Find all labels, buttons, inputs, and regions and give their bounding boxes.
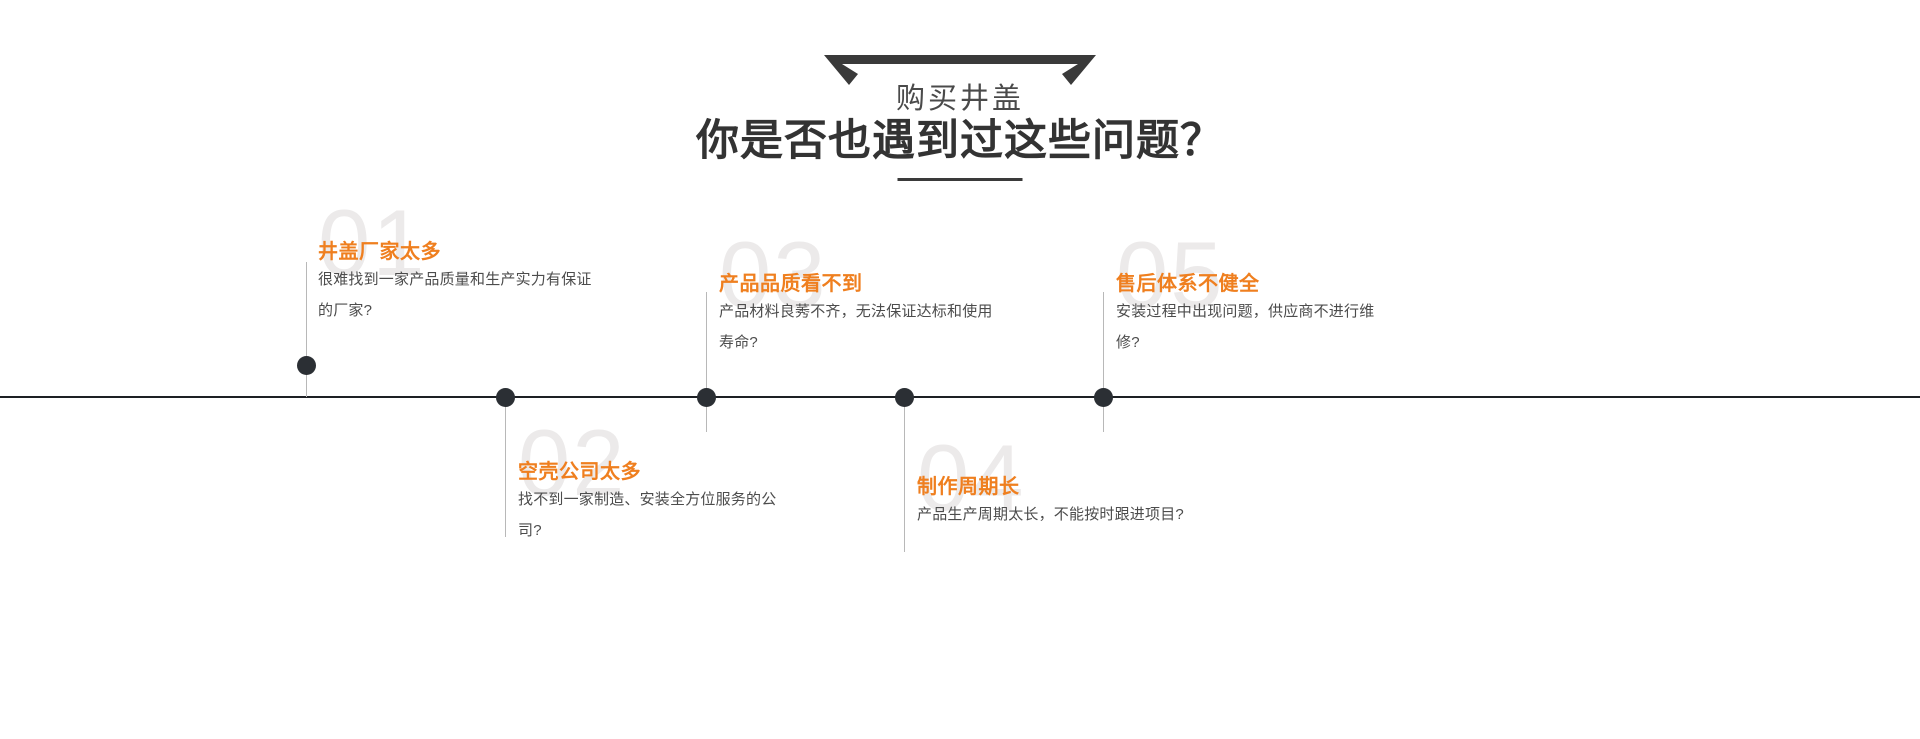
chevron-bracket-icon: [824, 55, 1096, 85]
timeline-node-02[interactable]: [496, 388, 515, 407]
page-title: 你是否也遇到过这些问题？: [0, 116, 1920, 166]
timeline-stem-02: [505, 397, 506, 537]
timeline-node-03[interactable]: [697, 388, 716, 407]
timeline-node-04[interactable]: [895, 388, 914, 407]
timeline-node-05[interactable]: [1094, 388, 1113, 407]
timeline-node-01[interactable]: [297, 356, 316, 375]
timeline-item-04-description: 产品生产周期太长，不能按时跟进项目?: [917, 499, 1192, 530]
page-root: 购买井盖 你是否也遇到过这些问题？ 01 井盖厂家太多 很难找到一家产品质量和生…: [0, 0, 1920, 739]
timeline-item-05-heading: 售后体系不健全: [1116, 272, 1260, 296]
title-divider: [898, 178, 1023, 181]
timeline-item-03-description: 产品材料良莠不齐，无法保证达标和使用寿命?: [719, 296, 994, 358]
timeline-stem-04: [904, 397, 905, 552]
page-header: 购买井盖 你是否也遇到过这些问题？: [0, 0, 1920, 200]
timeline-item-01-heading: 井盖厂家太多: [318, 240, 441, 264]
timeline-item-01-description: 很难找到一家产品质量和生产实力有保证的厂家?: [318, 264, 593, 326]
timeline-item-03-heading: 产品品质看不到: [719, 272, 863, 296]
timeline-item-05-description: 安装过程中出现问题，供应商不进行维修?: [1116, 296, 1391, 358]
page-subtitle: 购买井盖: [0, 82, 1920, 116]
timeline-item-02-description: 找不到一家制造、安装全方位服务的公司?: [518, 484, 793, 546]
timeline-axis: [0, 396, 1920, 398]
timeline-item-02-heading: 空壳公司太多: [518, 460, 641, 484]
timeline-stem-03: [706, 292, 707, 432]
timeline-stem-05: [1103, 292, 1104, 432]
timeline-stem-01: [306, 262, 307, 397]
timeline-item-04-heading: 制作周期长: [917, 475, 1020, 499]
